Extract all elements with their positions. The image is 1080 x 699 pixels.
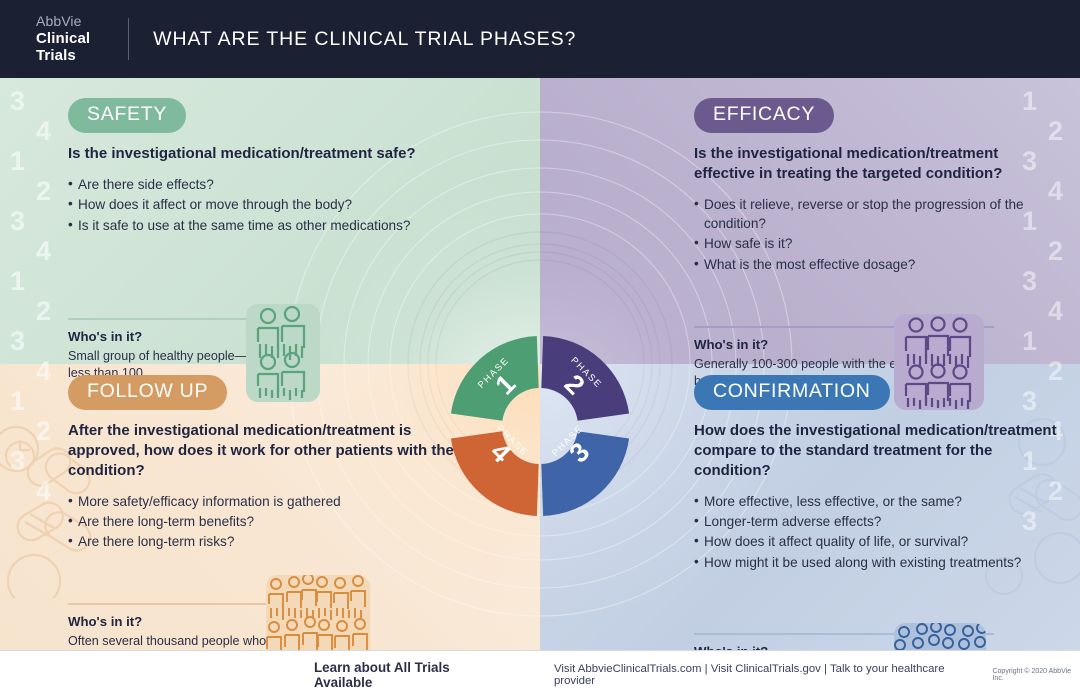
quadrant-confirmation-content: CONFIRMATION How does the investigationa… [694,375,1066,573]
heading-followup: After the investigational medication/tre… [68,421,468,481]
logo-line-clinical: Clinical [36,30,90,47]
bullet-list-followup: More safety/efficacy information is gath… [68,492,468,552]
bullet-item: Longer-term adverse effects? [694,512,1066,531]
footer-learn-text: Learn about All Trials Available [314,660,502,690]
badge-followup: FOLLOW UP [68,375,227,410]
badge-confirmation: CONFIRMATION [694,375,890,410]
header-bar: AbbVie Clinical Trials WHAT ARE THE CLIN… [0,0,1080,78]
quadrant-content-layer: SAFETY Is the investigational medication… [0,78,1080,650]
bullet-item: More effective, less effective, or the s… [694,492,1066,511]
footer-copyright: Copyright © 2020 AbbVie Inc. [992,668,1080,682]
abbvie-logo: AbbVie Clinical Trials [36,13,90,64]
bullet-item: How might it be used along with existing… [694,553,1066,572]
infographic-page: AbbVie Clinical Trials WHAT ARE THE CLIN… [0,0,1080,699]
page-title: WHAT ARE THE CLINICAL TRIAL PHASES? [153,28,576,51]
bullet-list-confirmation: More effective, less effective, or the s… [694,492,1066,572]
heading-safety: Is the investigational medication/treatm… [68,144,488,164]
quadrant-efficacy-content: EFFICACY Is the investigational medicati… [694,98,1062,275]
bullet-item: More safety/efficacy information is gath… [68,492,468,511]
bullet-list-safety: Are there side effects?How does it affec… [68,175,488,235]
quadrant-safety-content: SAFETY Is the investigational medication… [68,98,488,236]
bullet-item: How safe is it? [694,234,1062,253]
bullet-item: Are there side effects? [68,175,488,194]
logo-line-abbvie: AbbVie [36,13,90,29]
footer-bar: Learn about All Trials Available Visit A… [0,650,1080,699]
bullet-item: Is it safe to use at the same time as ot… [68,216,488,235]
badge-safety: SAFETY [68,98,186,133]
bullet-list-efficacy: Does it relieve, reverse or stop the pro… [694,195,1062,274]
badge-efficacy: EFFICACY [694,98,834,133]
footer-links-text[interactable]: Visit AbbvieClinicalTrials.com | Visit C… [554,663,969,687]
header-divider [128,18,129,60]
who-box-safety: Who's in it? Small group of healthy peop… [68,318,316,383]
heading-confirmation: How does the investigational medication/… [694,421,1066,481]
bullet-item: What is the most effective dosage? [694,255,1062,274]
bullet-item: Does it relieve, reverse or stop the pro… [694,195,1062,234]
bullet-item: Are there long-term benefits? [68,512,468,531]
bullet-item: How does it affect quality of life, or s… [694,532,1066,551]
heading-efficacy: Is the investigational medication/treatm… [694,144,1062,184]
bullet-item: Are there long-term risks? [68,532,468,551]
logo-line-trials: Trials [36,47,90,64]
quadrant-followup-content: FOLLOW UP After the investigational medi… [68,375,468,553]
bullet-item: How does it affect or move through the b… [68,195,488,214]
